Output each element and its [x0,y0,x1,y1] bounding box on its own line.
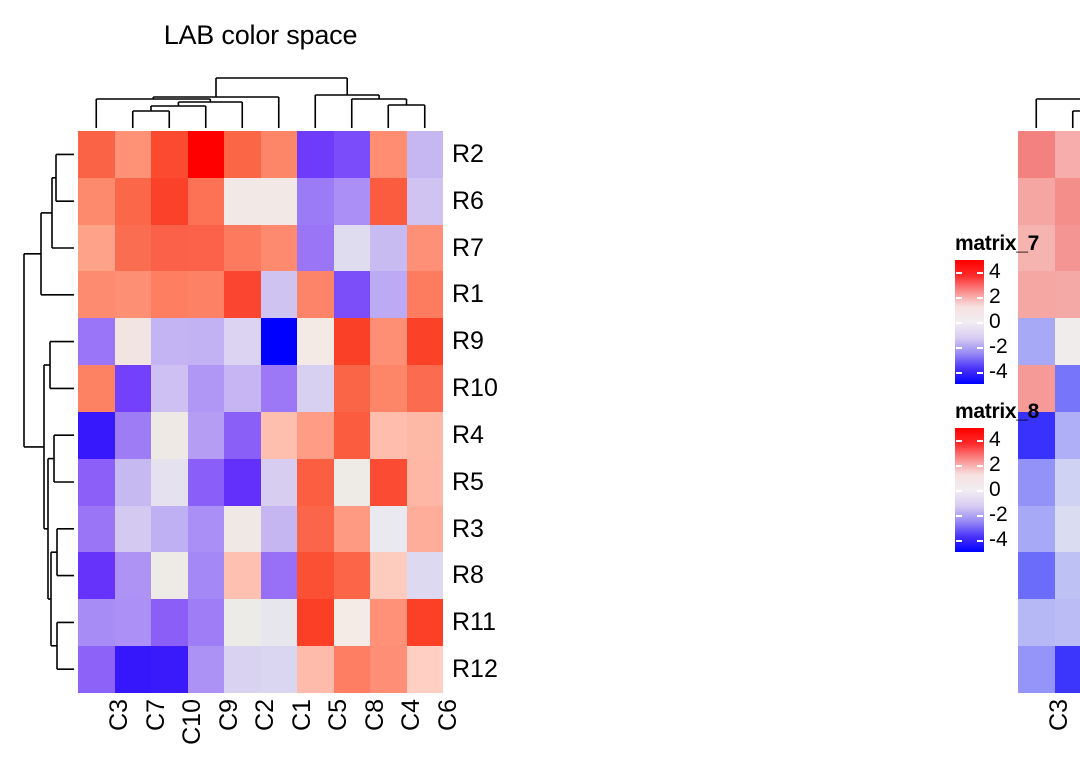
legend-title-matrix-7: matrix_7 [955,232,1075,256]
panel-lab: LAB color space [0,0,500,771]
heatmap-cell [78,552,115,599]
column-label: C1 [261,697,298,769]
heatmap-cell [297,412,334,459]
legend-tick-label: 4 [989,428,1001,452]
column-label: C4 [370,697,407,769]
heatmap-cell [297,225,334,272]
heatmap-cell [115,178,152,225]
heatmap-cell [297,131,334,178]
legend-colorbar-matrix-8 [955,428,984,552]
column-label: C5 [297,697,334,769]
heatmap-cell [1055,552,1080,599]
legend-tick-mark [977,347,983,349]
heatmap-cell [188,412,225,459]
legend-tick-mark [956,297,962,299]
heatmap-cell [297,318,334,365]
legend-colorbar-matrix-7 [955,260,984,384]
heatmap-cell [334,552,371,599]
heatmap-cell [1018,599,1055,646]
heatmap-cell [261,365,298,412]
heatmap-cell [115,646,152,693]
heatmap-cell [115,318,152,365]
column-dendrogram-rgb [1018,66,1080,128]
heatmap-cell [261,459,298,506]
legend-tick-mark [977,490,983,492]
heatmap-cell [261,318,298,365]
heatmap-cell [1018,552,1055,599]
heatmap-figure: LAB color space [0,0,1080,771]
legend-tick-mark [956,372,962,374]
heatmap-cell [334,225,371,272]
heatmap-cell [224,225,261,272]
heatmap-cell [151,318,188,365]
heatmap-cell [151,365,188,412]
heatmap-cell [261,646,298,693]
legend-tick-label: 0 [989,310,1001,334]
heatmap-cell [261,412,298,459]
heatmap-cell [78,131,115,178]
legend-tick-mark [977,297,983,299]
heatmap-cell [370,599,407,646]
heatmap-cell [370,225,407,272]
legend-tick-mark [977,515,983,517]
heatmap-cell [334,365,371,412]
heatmap-cell [407,178,444,225]
heatmap-cell [188,599,225,646]
column-dendrogram-lab [78,66,443,128]
heatmap-cell [407,506,444,553]
heatmap-cell [151,271,188,318]
heatmap-cell [334,178,371,225]
legend-tick-mark [977,540,983,542]
legend-tick-mark [977,465,983,467]
heatmap-cell [115,365,152,412]
heatmap-cell [188,178,225,225]
column-label: C7 [1055,697,1080,769]
legend-tick-label: 2 [989,285,1001,309]
legend-tick-mark [977,272,983,274]
legend-title-matrix-8: matrix_8 [955,400,1075,424]
legend-body-matrix-7: 420-2-4 [955,260,1075,384]
heatmap-cell [370,506,407,553]
heatmap-cell [224,459,261,506]
heatmap-cell [334,459,371,506]
legend-tick-label: 2 [989,453,1001,477]
heatmap-cell [78,225,115,272]
heatmap-cell [334,412,371,459]
heatmap-cell [151,459,188,506]
heatmap-cell [78,412,115,459]
heatmap-cell [224,365,261,412]
heatmap-cell [261,131,298,178]
heatmap-cell [224,412,261,459]
column-label: C6 [407,697,444,769]
heatmap-cell [78,599,115,646]
heatmap-cell [407,646,444,693]
heatmap-cell [188,318,225,365]
heatmap-cell [224,178,261,225]
heatmap-cell [115,131,152,178]
heatmap-cell [261,506,298,553]
legend-tick-mark [956,347,962,349]
heatmap-cell [297,552,334,599]
heatmap-cell [407,459,444,506]
heatmap-cell [1018,131,1055,178]
legend-tick-mark [956,440,962,442]
heatmap-cell [297,178,334,225]
legend-tick-mark [956,272,962,274]
column-label: C2 [224,697,261,769]
heatmap-cell [151,131,188,178]
heatmap-cell [78,318,115,365]
heatmap-cell [297,365,334,412]
legend-tick-label: 0 [989,478,1001,502]
heatmap-cell [115,459,152,506]
heatmap-cell [407,599,444,646]
heatmap-cell [78,459,115,506]
heatmap-cell [115,225,152,272]
panel-title-lab: LAB color space [78,20,443,51]
heatmap-cell [224,131,261,178]
heatmap-cell [78,178,115,225]
panel-rgb: RGB color space [470,0,1010,771]
heatmap-cell [115,271,152,318]
column-label: C9 [188,697,225,769]
column-label: C3 [78,697,115,769]
legend-tick-label: -4 [989,528,1008,552]
heatmap-cell [188,552,225,599]
heatmap-cell [188,506,225,553]
heatmap-cell [370,459,407,506]
heatmap-cell [334,506,371,553]
heatmap-cell [407,365,444,412]
heatmap-cell [151,178,188,225]
legend-tick-mark [956,490,962,492]
heatmap-cell [188,365,225,412]
column-label: C8 [334,697,371,769]
legend-tick-label: -4 [989,360,1008,384]
heatmap-cell [188,271,225,318]
heatmap-cell [151,506,188,553]
panel-title-rgb: RGB color space [1018,20,1080,51]
heatmap-cell [297,271,334,318]
heatmap-cell [1018,646,1055,693]
heatmap-grid-lab [78,131,443,693]
heatmap-cell [370,365,407,412]
heatmap-cell [224,318,261,365]
heatmap-cell [78,646,115,693]
legend-matrix-8: matrix_8 420-2-4 [955,400,1075,552]
heatmap-cell [224,646,261,693]
legend-tick-mark [977,372,983,374]
legend-tick-label: -2 [989,503,1008,527]
heatmap-cell [370,412,407,459]
heatmap-cell [370,271,407,318]
heatmap-cell [151,599,188,646]
heatmap-cell [370,552,407,599]
column-labels-lab: C3C7C10C9C2C1C5C8C4C6 [78,697,443,769]
heatmap-cell [188,225,225,272]
heatmap-cell [1055,178,1080,225]
column-label: C10 [151,697,188,769]
heatmap-cell [407,412,444,459]
legend-ticks-matrix-8: 420-2-4 [989,428,1049,552]
heatmap-cell [1055,599,1080,646]
heatmap-cell [151,552,188,599]
heatmap-cell [334,318,371,365]
heatmap-cell [115,599,152,646]
heatmap-cell [407,552,444,599]
heatmap-cell [188,646,225,693]
row-dendrogram-lab [8,131,74,693]
heatmap-cell [261,271,298,318]
heatmap-cell [115,412,152,459]
heatmap-cell [370,178,407,225]
heatmap-cell [151,225,188,272]
heatmap-cell [407,225,444,272]
heatmap-cell [224,271,261,318]
heatmap-cell [224,506,261,553]
heatmap-cell [261,599,298,646]
heatmap-cell [334,271,371,318]
heatmap-cell [407,131,444,178]
heatmap-cell [370,318,407,365]
heatmap-cell [261,552,298,599]
heatmap-cell [261,178,298,225]
heatmap-cell [370,131,407,178]
heatmap-cell [261,225,298,272]
heatmap-cell [407,271,444,318]
legend-matrix-7: matrix_7 420-2-4 [955,232,1075,384]
legend-tick-mark [956,465,962,467]
heatmap-cell [188,131,225,178]
column-labels-rgb: C3C7C10C9C2C1C5C8C4C6 [1018,697,1080,769]
heatmap-cell [1055,646,1080,693]
heatmap-cell [115,552,152,599]
legend-tick-label: -2 [989,335,1008,359]
legend-ticks-matrix-7: 420-2-4 [989,260,1049,384]
heatmap-cell [334,599,371,646]
heatmap-cell [224,552,261,599]
heatmap-cell [334,646,371,693]
legend-tick-mark [977,322,983,324]
heatmap-cell [334,131,371,178]
heatmap-cell [370,646,407,693]
heatmap-cell [151,646,188,693]
heatmap-cell [78,271,115,318]
heatmap-cell [115,506,152,553]
legend-tick-mark [956,540,962,542]
heatmap-cell [297,459,334,506]
heatmap-cell [188,459,225,506]
heatmap-cell [151,412,188,459]
heatmap-cell [297,506,334,553]
heatmap-cell [297,599,334,646]
legend-tick-mark [977,440,983,442]
heatmap-cell [78,365,115,412]
heatmap-cell [297,646,334,693]
heatmap-cell [407,318,444,365]
column-label: C3 [1018,697,1055,769]
heatmap-cell [224,599,261,646]
heatmap-cell [1055,131,1080,178]
legend-tick-label: 4 [989,260,1001,284]
heatmap-cell [1018,178,1055,225]
legend-tick-mark [956,515,962,517]
legend-tick-mark [956,322,962,324]
column-label: C7 [115,697,152,769]
legend-body-matrix-8: 420-2-4 [955,428,1075,552]
heatmap-cell [78,506,115,553]
